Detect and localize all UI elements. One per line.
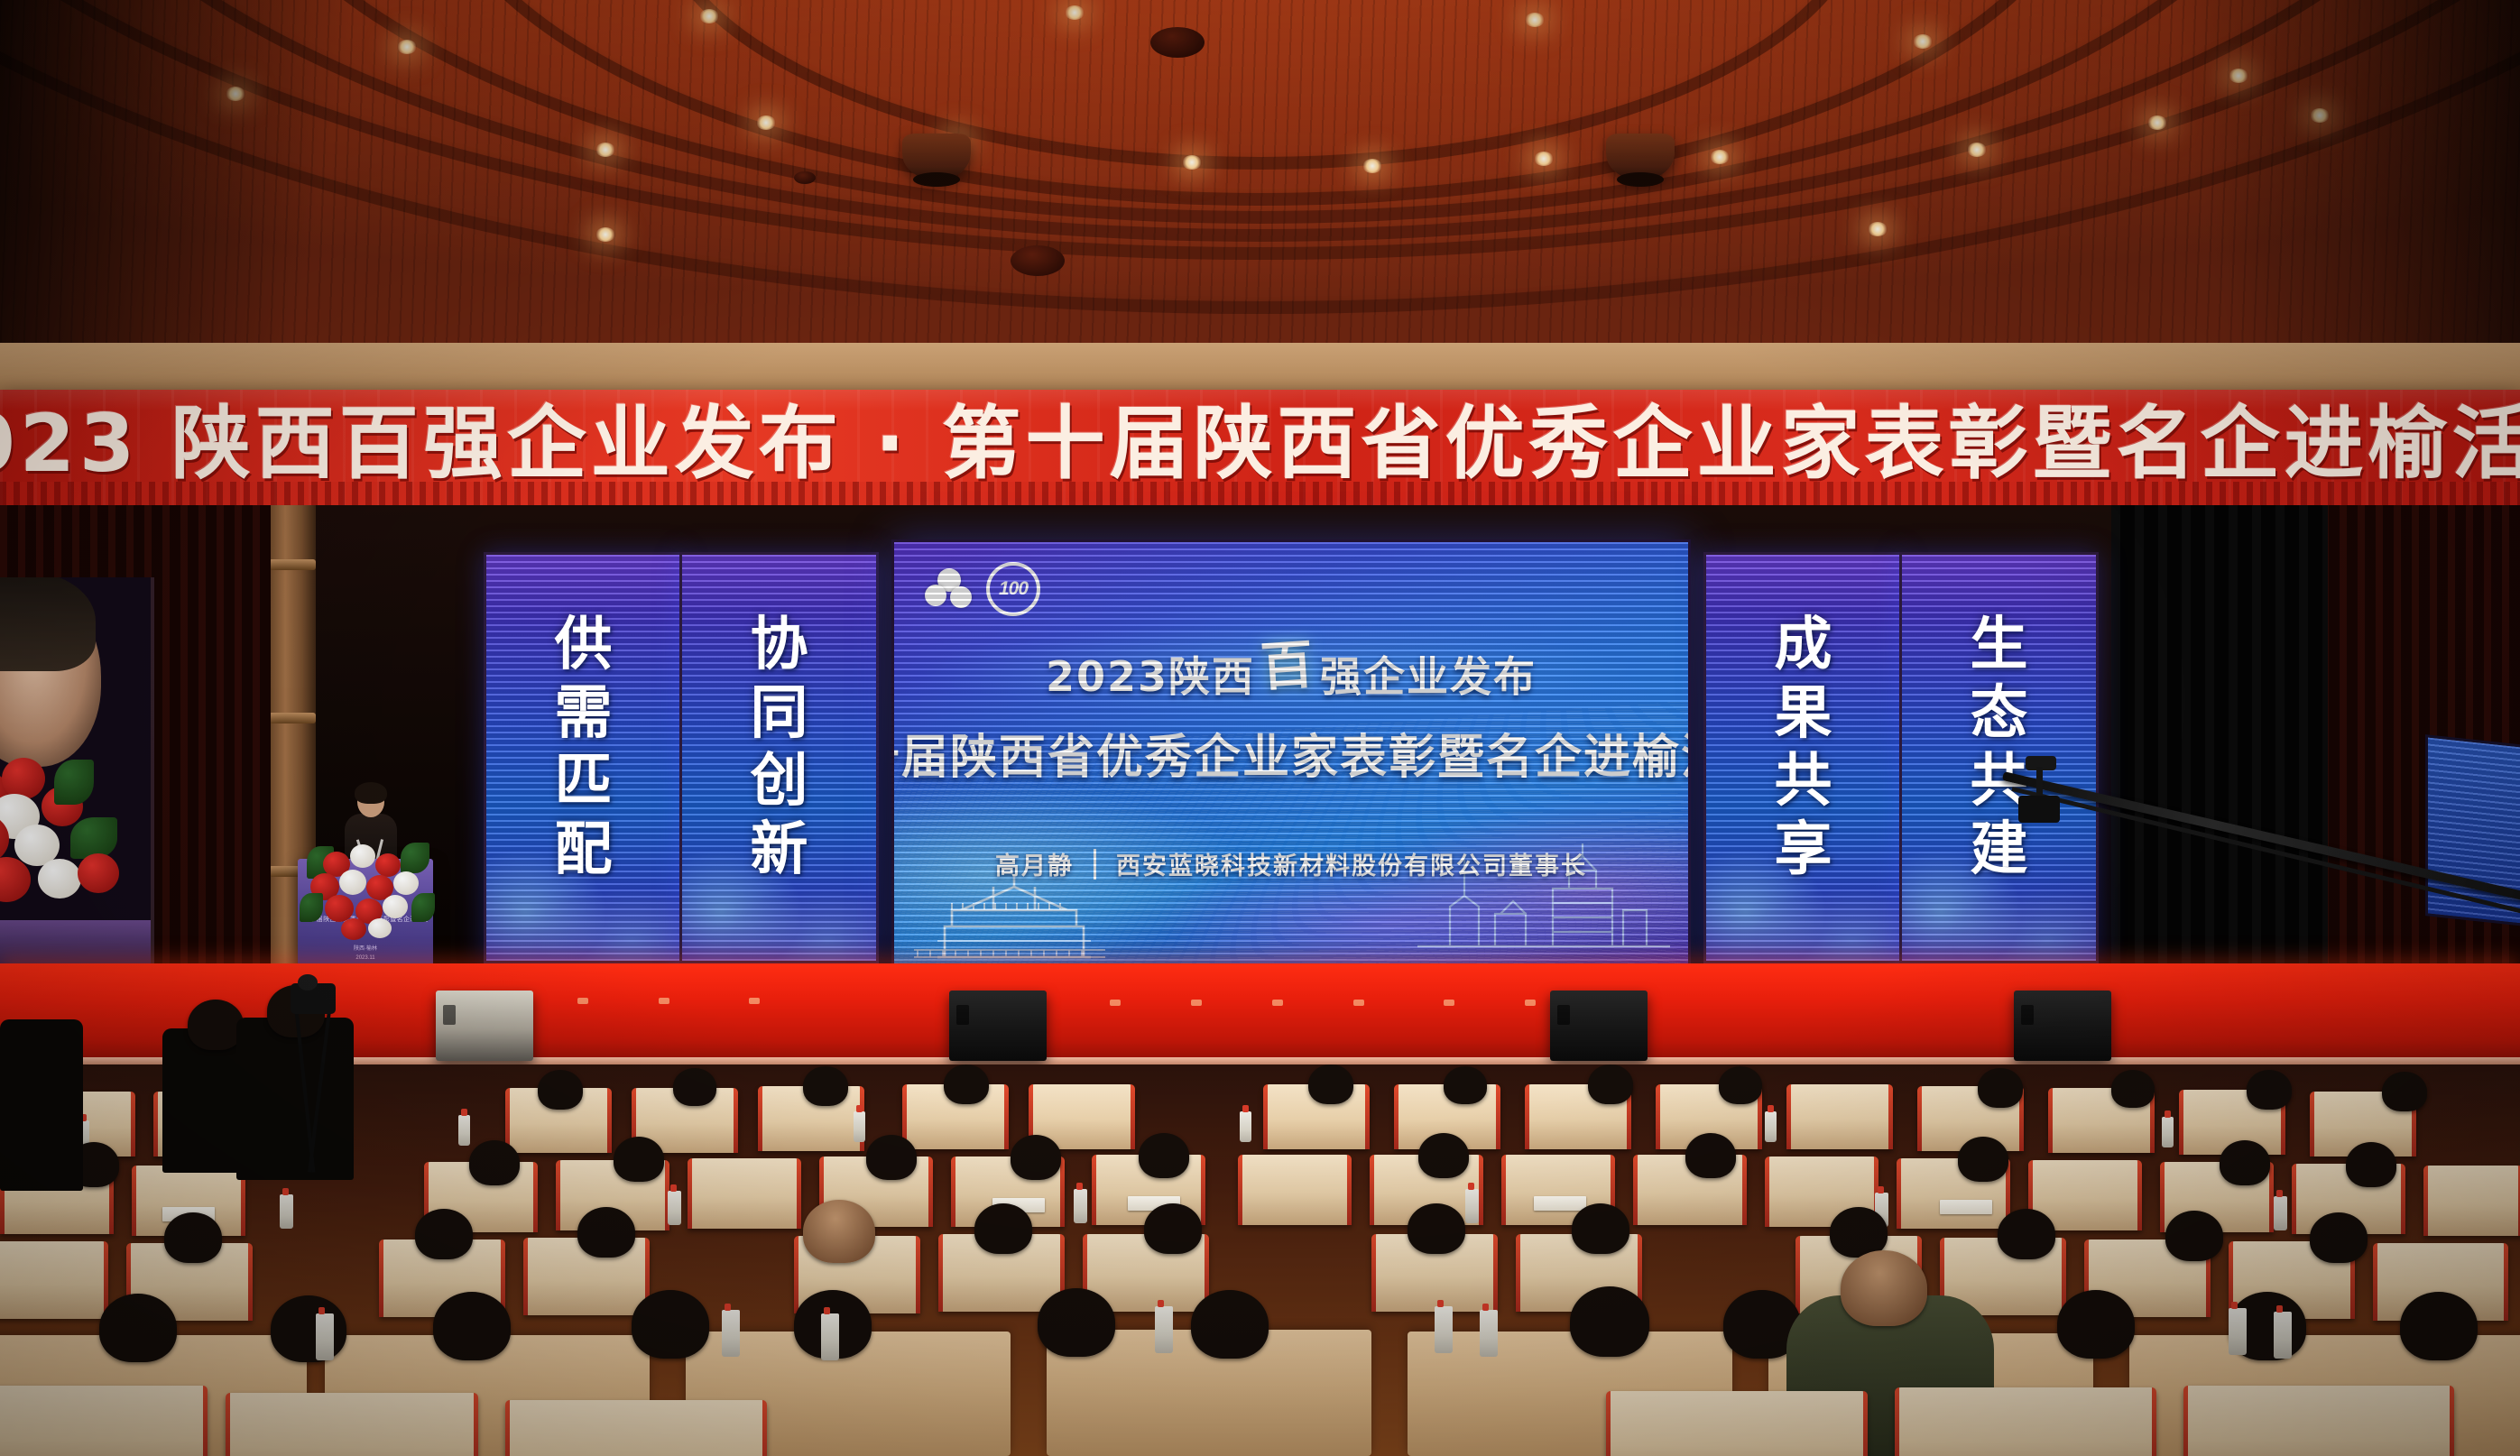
podium-sub-text: 陕西·榆林 2023.11 — [303, 945, 428, 963]
screen-title-line1: 2023陕西百强企业发布 — [1046, 631, 1537, 706]
water-bottle — [722, 1310, 740, 1357]
water-bottle — [1074, 1189, 1087, 1223]
audience-head — [1998, 1209, 2055, 1259]
led-wing-panel-left-2: 协 同 创 新 — [679, 552, 879, 963]
audience-head — [1418, 1133, 1469, 1178]
audience-seat — [2423, 1166, 2520, 1236]
audience-head — [1570, 1286, 1649, 1357]
audience-head — [538, 1070, 583, 1110]
audience-seat — [2183, 1386, 2454, 1456]
stage-monitor — [949, 991, 1047, 1061]
audience-head — [803, 1066, 848, 1106]
wing-char: 享 — [1775, 816, 1832, 885]
led-wing-panel-right-1: 成 果 共 享 — [1703, 552, 1903, 963]
audience-seat — [1895, 1387, 2156, 1456]
flower-arrangement-closeup — [0, 754, 154, 944]
audience-head — [673, 1068, 716, 1106]
camera-operator — [236, 1018, 354, 1180]
audience-head — [415, 1209, 473, 1259]
water-bottle — [2274, 1312, 2292, 1359]
audience-seat — [1606, 1391, 1868, 1456]
audience-head — [2382, 1072, 2427, 1111]
water-bottle — [668, 1191, 681, 1225]
audience-area — [0, 1064, 2520, 1456]
audience-seat — [0, 1241, 108, 1319]
title-suffix: 强企业发布 — [1320, 652, 1537, 701]
ceiling-projector-dome — [1150, 27, 1205, 58]
water-bottle — [280, 1194, 293, 1229]
stage-monitor — [1550, 991, 1648, 1061]
audience-head — [1038, 1288, 1115, 1357]
audience-head — [2057, 1290, 2135, 1359]
ceiling-downlight — [1525, 13, 1545, 27]
speaker-name: 高月静 — [995, 846, 1074, 881]
water-bottle — [458, 1115, 470, 1146]
stage-monitor — [2014, 991, 2111, 1061]
water-bottle — [821, 1313, 839, 1360]
audience-head — [577, 1207, 635, 1258]
audience-head — [2111, 1070, 2155, 1108]
wing-char: 共 — [1775, 748, 1832, 816]
jib-camera-head — [2017, 756, 2069, 828]
wing-char: 供 — [555, 612, 613, 680]
water-bottle — [1765, 1111, 1777, 1142]
water-bottle — [854, 1111, 865, 1142]
camera-lens-icon — [298, 974, 318, 991]
audience-head — [974, 1203, 1032, 1254]
ceiling-downlight — [397, 40, 417, 54]
wing-char: 同 — [751, 680, 808, 749]
audience-head — [2310, 1212, 2368, 1263]
wing-char: 态 — [1971, 680, 2028, 749]
audience-head — [944, 1064, 989, 1104]
stage-monitor — [436, 991, 533, 1061]
ceiling-downlight — [595, 227, 615, 242]
audience-head — [1444, 1066, 1487, 1104]
audience-head — [2165, 1211, 2223, 1261]
audience-head — [866, 1135, 917, 1180]
audience-head — [1978, 1068, 2023, 1108]
ceiling-downlight — [1534, 152, 1554, 166]
main-screen-content: 2023陕西百强企业发布 第十届陕西省优秀企业家表彰暨名企进榆活动 高月静 西安… — [894, 542, 1688, 966]
audience-head — [1408, 1203, 1465, 1254]
speaker-hair — [0, 577, 96, 671]
audience-head — [1308, 1064, 1353, 1104]
audience-head — [1011, 1135, 1061, 1180]
audience-head — [1685, 1133, 1736, 1178]
audience-seat — [1786, 1084, 1893, 1149]
water-bottle — [1155, 1306, 1173, 1353]
ceiling-shadow-right — [2141, 0, 2520, 379]
audience-head — [1139, 1133, 1189, 1178]
speaker-divider — [1094, 849, 1096, 880]
wing-char: 创 — [751, 748, 808, 816]
audience-head — [99, 1294, 177, 1362]
ceiling-downlight — [1065, 5, 1085, 20]
wing-char: 协 — [751, 612, 808, 680]
speaker-title: 西安蓝晓科技新材料股份有限公司董事长 — [1116, 846, 1587, 881]
ceiling-downlight — [595, 143, 615, 157]
main-led-screen: 100 — [891, 539, 1691, 969]
title-prefix: 2023陕西 — [1046, 652, 1255, 701]
audience-head — [614, 1137, 664, 1182]
audience-head — [271, 1295, 346, 1362]
wing-char: 果 — [1775, 680, 1832, 749]
podium-flower-arrangement — [300, 839, 437, 944]
ceiling-downlight — [1913, 34, 1933, 49]
ceiling-downlight — [1967, 143, 1987, 157]
audience-head — [2346, 1142, 2396, 1187]
audience-head — [1719, 1066, 1762, 1104]
title-hundred-char: 百 — [1258, 622, 1317, 701]
crew-member — [0, 1019, 83, 1191]
audience-seat — [0, 1386, 208, 1456]
seat-name-card — [1940, 1200, 1992, 1214]
seat-name-card — [1534, 1196, 1586, 1211]
audience-head — [2400, 1292, 2478, 1360]
ceiling-downlight — [1362, 159, 1382, 173]
audience-head — [1841, 1250, 1927, 1326]
ceiling-shadow-left — [0, 0, 379, 379]
audience-head — [1191, 1290, 1269, 1359]
stage-floor — [0, 963, 2520, 1064]
water-bottle — [2229, 1308, 2247, 1355]
audience-seat — [505, 1400, 767, 1456]
audience-head — [1144, 1203, 1202, 1254]
audience-head — [632, 1290, 709, 1359]
event-banner: 2023 陕西百强企业发布 · 第十届陕西省优秀企业家表彰暨名企进榆活动 — [0, 390, 2520, 505]
audience-head — [803, 1200, 875, 1263]
water-bottle — [2274, 1196, 2287, 1230]
ceiling-projector-dome — [1011, 245, 1065, 276]
audience-head — [2247, 1070, 2292, 1110]
wing-panel-text-right-1: 成 果 共 享 — [1775, 612, 1832, 884]
audience-seat — [688, 1158, 801, 1229]
water-bottle — [1435, 1306, 1453, 1353]
audience-head — [433, 1292, 511, 1360]
wing-char: 新 — [751, 816, 808, 885]
ceiling-downlight — [1710, 150, 1730, 164]
ceiling-downlight — [1182, 155, 1202, 170]
ceiling-sprinkler — [794, 171, 816, 184]
screen-title-line2: 第十届陕西省优秀企业家表彰暨名企进榆活动 — [891, 719, 1691, 787]
podium-date: 2023.11 — [303, 954, 428, 963]
led-wing-panel-left-1: 供 需 匹 配 — [484, 552, 683, 963]
ceiling-downlight — [699, 9, 719, 23]
audience-head — [469, 1140, 520, 1185]
water-bottle — [316, 1313, 334, 1360]
water-bottle — [2162, 1117, 2174, 1147]
audience-head — [1572, 1203, 1629, 1254]
wing-char: 匹 — [555, 748, 613, 816]
water-bottle — [1465, 1189, 1479, 1223]
ceiling — [0, 0, 2520, 379]
audience-head — [164, 1212, 222, 1263]
wing-char: 需 — [555, 680, 613, 749]
wing-panel-text-left-1: 供 需 匹 配 — [555, 612, 613, 884]
audience-seat — [1238, 1155, 1352, 1225]
ceiling-downlight — [756, 115, 776, 130]
water-bottle — [1480, 1310, 1498, 1357]
podium-location: 陕西·榆林 — [303, 945, 428, 954]
crew-head — [188, 1000, 244, 1050]
audience-head — [1588, 1064, 1633, 1104]
audience-head — [1958, 1137, 2008, 1182]
wing-char: 成 — [1775, 612, 1832, 680]
wing-char: 生 — [1971, 612, 2028, 680]
wing-panel-text-right-2: 生 态 共 建 — [1971, 612, 2028, 884]
side-screen-speaker-feed — [0, 577, 154, 974]
wing-panel-text-left-2: 协 同 创 新 — [751, 612, 808, 884]
audience-head — [2220, 1140, 2270, 1185]
wing-char: 配 — [555, 816, 613, 885]
conference-hall-scene: 2023 陕西百强企业发布 · 第十届陕西省优秀企业家表彰暨名企进榆活动 — [0, 0, 2520, 1456]
ceiling-downlight — [1868, 222, 1888, 236]
banner-title: 2023 陕西百强企业发布 · 第十届陕西省优秀企业家表彰暨名企进榆活动 — [0, 404, 2520, 491]
banner-fringe — [0, 482, 2520, 505]
audience-seat — [226, 1393, 478, 1456]
water-bottle — [1240, 1111, 1251, 1142]
screen-speaker-line: 高月静 西安蓝晓科技新材料股份有限公司董事长 — [995, 846, 1587, 881]
